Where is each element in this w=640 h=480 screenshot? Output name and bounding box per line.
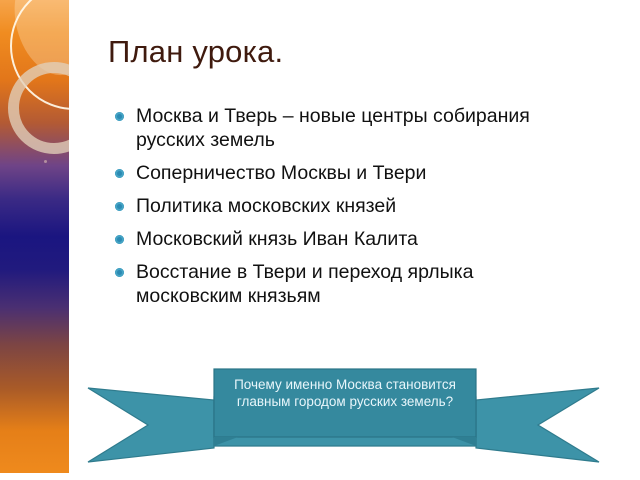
list-item-label: Политика московских князей bbox=[136, 194, 580, 218]
bullet-dot-icon bbox=[115, 169, 124, 178]
bullet-dot-icon bbox=[115, 268, 124, 277]
ribbon-question-text: Почему именно Москва становится главным … bbox=[214, 376, 476, 410]
decorative-sidebar bbox=[0, 0, 69, 473]
ribbon-left-tail bbox=[88, 388, 214, 462]
page-title: План урока. bbox=[108, 34, 283, 70]
list-item: Москва и Тверь – новые центры собирания … bbox=[114, 104, 556, 152]
list-item: Политика московских князей bbox=[114, 194, 580, 218]
small-dot-icon bbox=[44, 160, 47, 163]
slide-canvas: План урока. Москва и Тверь – новые центр… bbox=[0, 0, 640, 480]
list-item: Восстание в Твери и переход ярлыка моско… bbox=[114, 260, 556, 308]
list-item: Соперничество Москвы и Твери bbox=[114, 161, 580, 185]
list-item-label: Москва и Тверь – новые центры собирания … bbox=[136, 104, 556, 152]
bullet-dot-icon bbox=[115, 235, 124, 244]
bullet-dot-icon bbox=[115, 112, 124, 121]
ribbon-right-tail bbox=[476, 388, 599, 462]
lesson-plan-list: Москва и Тверь – новые центры собирания … bbox=[114, 104, 580, 317]
list-item-label: Московский князь Иван Калита bbox=[136, 227, 580, 251]
question-ribbon-banner: Почему именно Москва становится главным … bbox=[86, 366, 601, 470]
list-item-label: Соперничество Москвы и Твери bbox=[136, 161, 580, 185]
list-item: Московский князь Иван Калита bbox=[114, 227, 580, 251]
bullet-dot-icon bbox=[115, 202, 124, 211]
list-item-label: Восстание в Твери и переход ярлыка моско… bbox=[136, 260, 556, 308]
